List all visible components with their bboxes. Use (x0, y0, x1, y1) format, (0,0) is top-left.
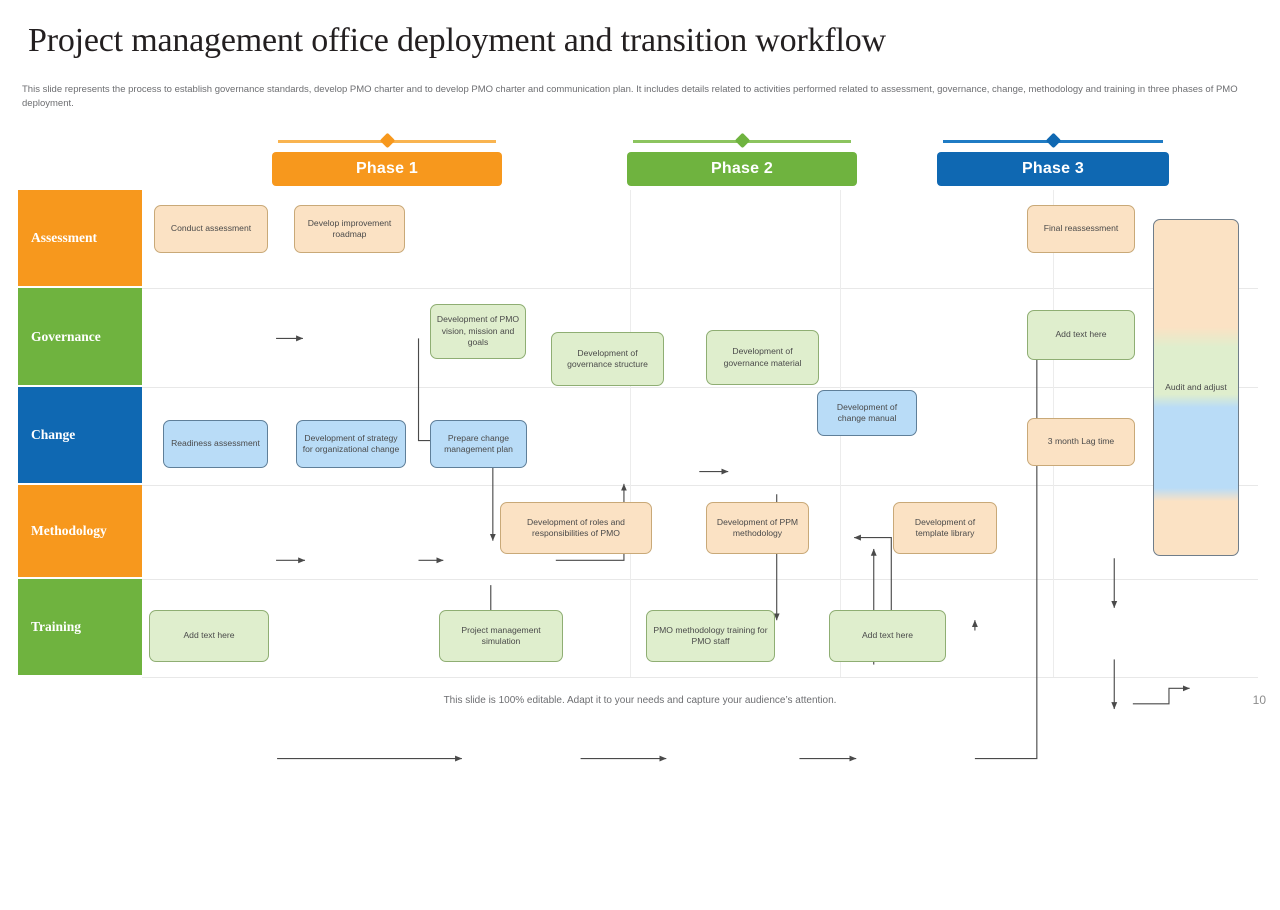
page-title: Project management office deployment and… (28, 22, 886, 60)
grid-row-divider (142, 387, 1258, 388)
node-strategy-organizational-change[interactable]: Development of strategy for organization… (296, 420, 406, 468)
node-pmo-methodology-training[interactable]: PMO methodology training for PMO staff (646, 610, 775, 662)
node-conduct-assessment[interactable]: Conduct assessment (154, 205, 268, 253)
node-add-text-here-training-2[interactable]: Add text here (829, 610, 946, 662)
node-develop-improvement-roadmap[interactable]: Develop improvement roadmap (294, 205, 405, 253)
node-label: PMO methodology training for PMO staff (651, 625, 770, 648)
row-label-text: Assessment (31, 230, 97, 246)
node-pmo-vision-mission-goals[interactable]: Development of PMO vision, mission and g… (430, 304, 526, 359)
node-roles-and-responsibilities[interactable]: Development of roles and responsibilitie… (500, 502, 652, 554)
grid-row-divider (142, 677, 1258, 678)
phase-diamond-marker (734, 133, 750, 149)
node-label: Development of change manual (822, 402, 912, 425)
row-label-training[interactable]: Training (18, 579, 142, 677)
node-label: Add text here (183, 630, 234, 641)
node-label: Add text here (862, 630, 913, 641)
node-label: Final reassessment (1044, 223, 1119, 234)
phase-header-1[interactable]: Phase 1 (272, 152, 502, 186)
phase-header-3[interactable]: Phase 3 (937, 152, 1169, 186)
phase-label-1: Phase 1 (272, 152, 502, 186)
row-label-text: Methodology (31, 523, 107, 539)
row-label-text: Governance (31, 329, 101, 345)
node-label: Development of PPM methodology (711, 517, 804, 540)
row-label-methodology[interactable]: Methodology (18, 485, 142, 579)
node-label: Add text here (1055, 329, 1106, 340)
node-label: Development of roles and responsibilitie… (505, 517, 647, 540)
node-label: Project management simulation (444, 625, 558, 648)
row-label-governance[interactable]: Governance (18, 288, 142, 387)
node-project-management-simulation[interactable]: Project management simulation (439, 610, 563, 662)
row-label-text: Change (31, 427, 75, 443)
grid-row-divider (142, 485, 1258, 486)
grid-row-divider (142, 288, 1258, 289)
node-ppm-methodology[interactable]: Development of PPM methodology (706, 502, 809, 554)
node-readiness-assessment[interactable]: Readiness assessment (163, 420, 268, 468)
node-add-text-here-training-1[interactable]: Add text here (149, 610, 269, 662)
node-label: Conduct assessment (171, 223, 251, 234)
page-number: 10 (1253, 693, 1266, 707)
node-label: Development of PMO vision, mission and g… (435, 314, 521, 348)
row-label-assessment[interactable]: Assessment (18, 190, 142, 288)
node-label: Development of strategy for organization… (301, 433, 401, 456)
node-final-reassessment[interactable]: Final reassessment (1027, 205, 1135, 253)
node-label: Development of template library (898, 517, 992, 540)
row-label-change[interactable]: Change (18, 387, 142, 485)
node-label: Audit and adjust (1165, 382, 1227, 393)
slide-description: This slide represents the process to est… (22, 83, 1254, 110)
node-label: Develop improvement roadmap (299, 218, 400, 241)
phase-label-3: Phase 3 (937, 152, 1169, 186)
node-add-text-here-governance[interactable]: Add text here (1027, 310, 1135, 360)
node-label: Prepare change management plan (435, 433, 522, 456)
node-label: 3 month Lag time (1048, 436, 1114, 447)
phase-diamond-marker (379, 133, 395, 149)
row-label-text: Training (31, 619, 81, 635)
workflow-grid: Assessment Governance Change Methodology… (18, 190, 1258, 678)
grid-row-divider (142, 579, 1258, 580)
grid-column-divider (630, 190, 631, 677)
node-governance-material[interactable]: Development of governance material (706, 330, 819, 385)
node-label: Development of governance material (711, 346, 814, 369)
node-label: Development of governance structure (556, 348, 659, 371)
phase-diamond-marker (1045, 133, 1061, 149)
node-governance-structure[interactable]: Development of governance structure (551, 332, 664, 386)
node-prepare-change-management-plan[interactable]: Prepare change management plan (430, 420, 527, 468)
node-3-month-lag-time[interactable]: 3 month Lag time (1027, 418, 1135, 466)
phase-header-2[interactable]: Phase 2 (627, 152, 857, 186)
node-template-library[interactable]: Development of template library (893, 502, 997, 554)
node-change-manual[interactable]: Development of change manual (817, 390, 917, 436)
node-audit-and-adjust[interactable]: Audit and adjust (1153, 219, 1239, 556)
node-label: Readiness assessment (171, 438, 260, 449)
phase-label-2: Phase 2 (627, 152, 857, 186)
footer-note: This slide is 100% editable. Adapt it to… (0, 695, 1280, 706)
